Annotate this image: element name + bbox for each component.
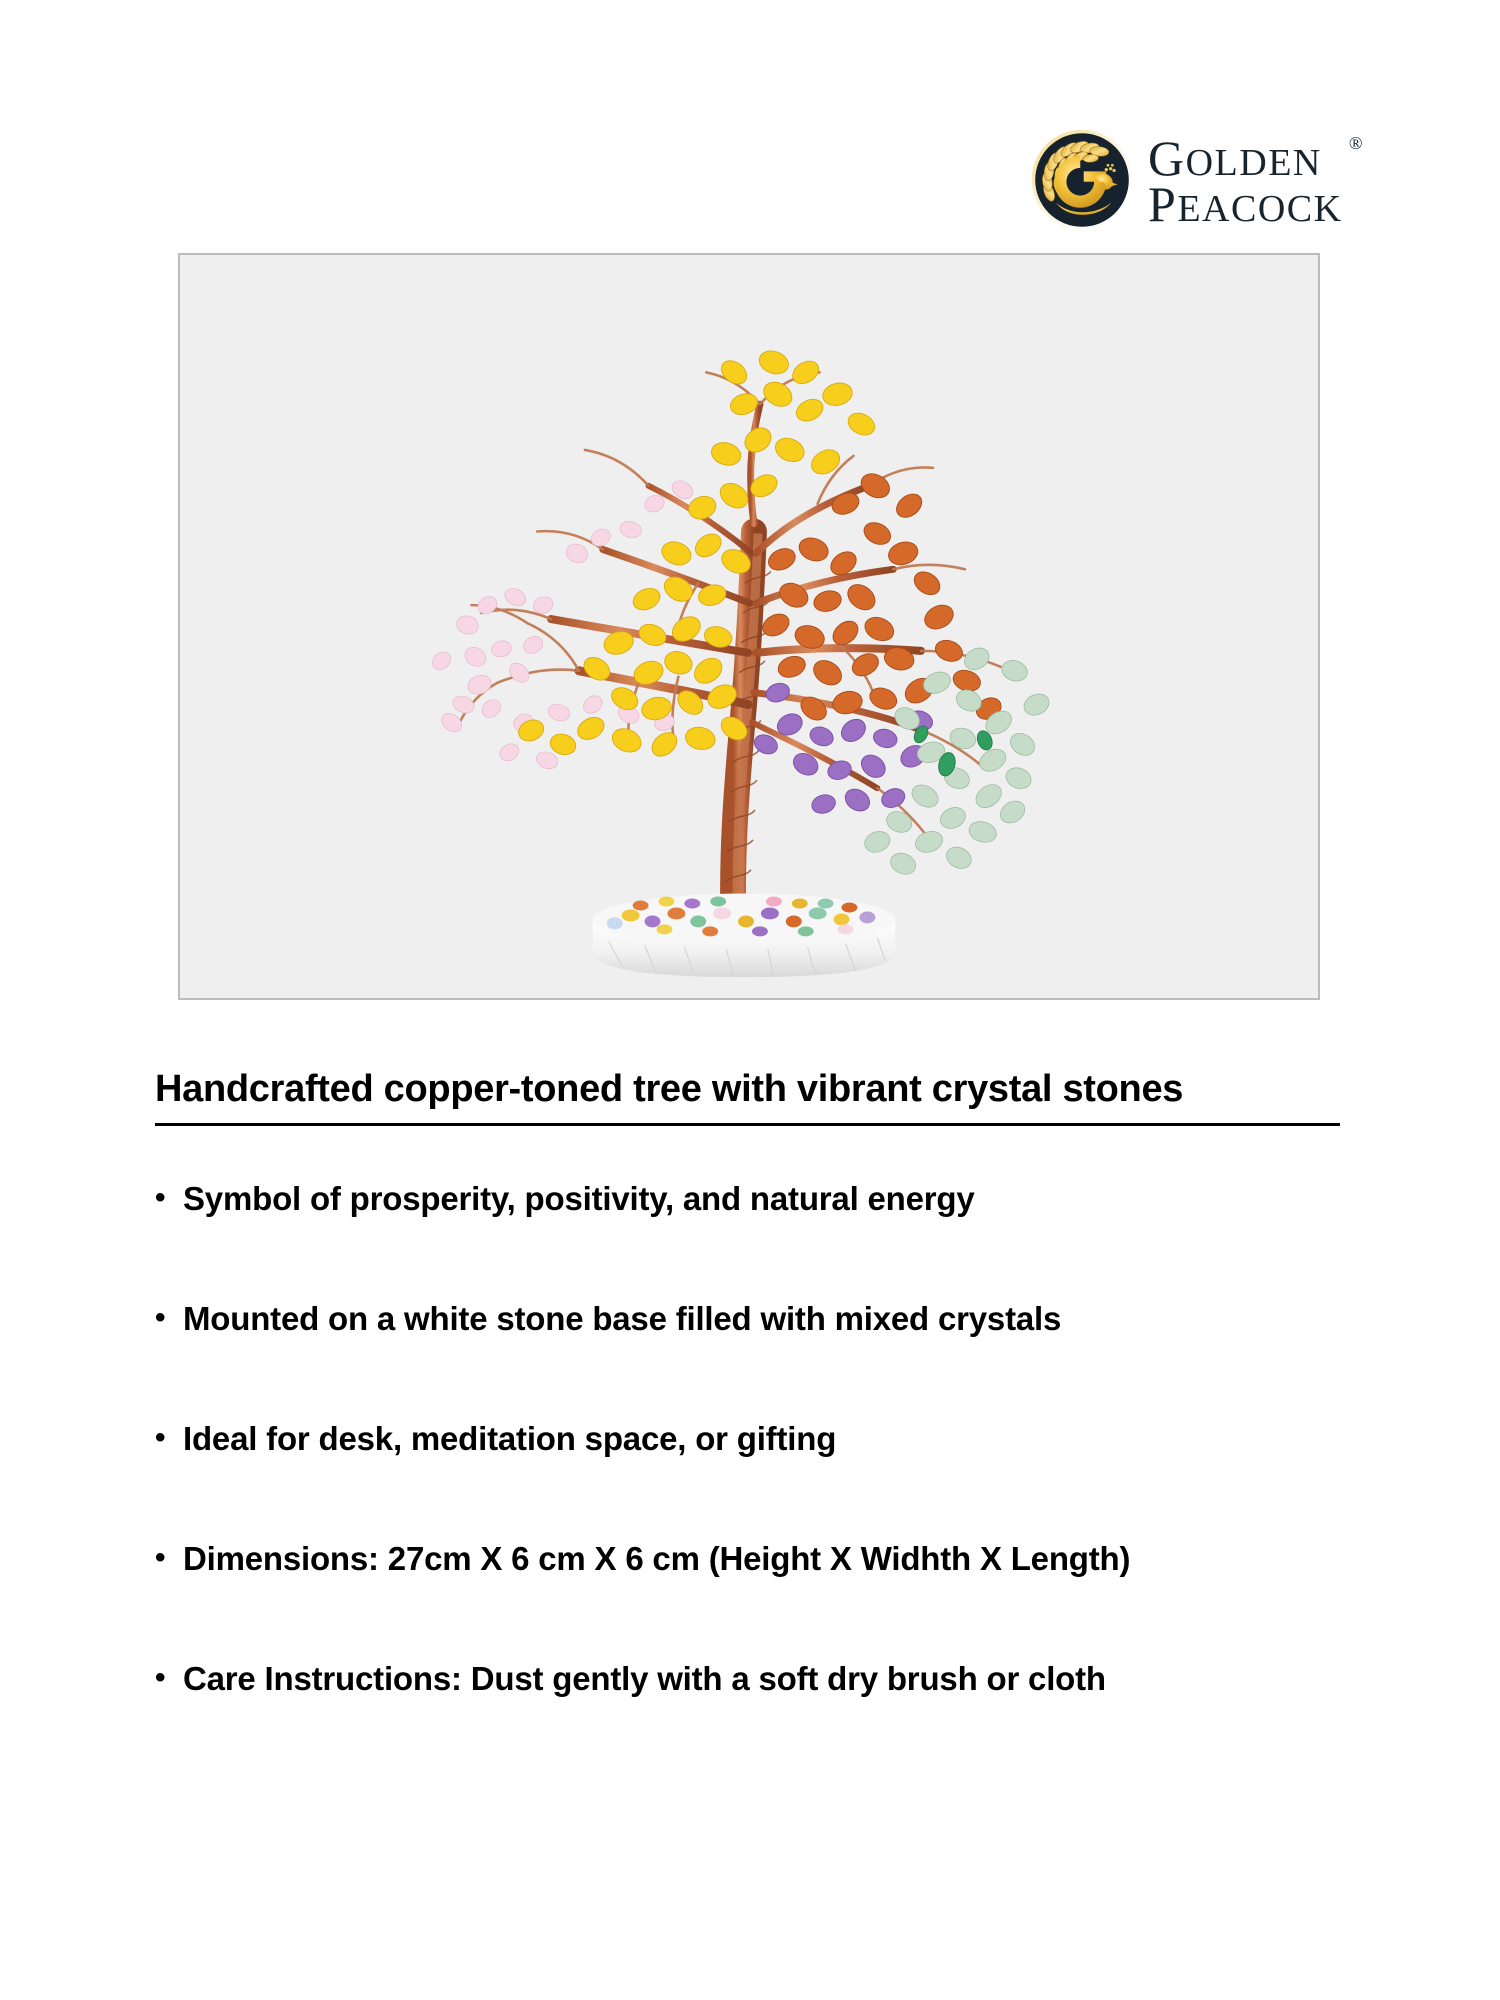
list-item: • Care Instructions: Dust gently with a … (155, 1660, 1405, 1780)
list-item: • Ideal for desk, meditation space, or g… (155, 1420, 1405, 1540)
title-underline (155, 1123, 1340, 1126)
brand-wordmark: GOLDEN PEACOCK ® (1148, 133, 1343, 227)
bullet-icon: • (155, 1180, 183, 1213)
brand-line-peacock: PEACOCK (1148, 181, 1343, 227)
crystal-tree-illustration (180, 255, 1318, 998)
golden-peacock-emblem-icon (1030, 128, 1134, 232)
white-crystal-stone-base (593, 894, 895, 978)
page-title: Handcrafted copper-toned tree with vibra… (155, 1068, 1355, 1111)
product-image-frame (178, 253, 1320, 1000)
list-item: • Mounted on a white stone base filled w… (155, 1300, 1405, 1420)
brand-logo: GOLDEN PEACOCK ® (1030, 128, 1343, 232)
registered-trademark-icon: ® (1349, 135, 1363, 152)
bullet-icon: • (155, 1300, 183, 1333)
list-item-label: Dimensions: 27cm X 6 cm X 6 cm (Height X… (183, 1540, 1405, 1578)
bullet-icon: • (155, 1420, 183, 1453)
bullet-icon: • (155, 1540, 183, 1573)
list-item: • Dimensions: 27cm X 6 cm X 6 cm (Height… (155, 1540, 1405, 1660)
bullet-icon: • (155, 1660, 183, 1693)
brand-line-golden: GOLDEN (1148, 135, 1343, 181)
list-item-label: Ideal for desk, meditation space, or gif… (183, 1420, 1405, 1458)
list-item-label: Symbol of prosperity, positivity, and na… (183, 1180, 1405, 1218)
list-item: • Symbol of prosperity, positivity, and … (155, 1180, 1405, 1300)
feature-list: • Symbol of prosperity, positivity, and … (155, 1180, 1405, 1780)
list-item-label: Mounted on a white stone base filled wit… (183, 1300, 1405, 1338)
list-item-label: Care Instructions: Dust gently with a so… (183, 1660, 1405, 1698)
